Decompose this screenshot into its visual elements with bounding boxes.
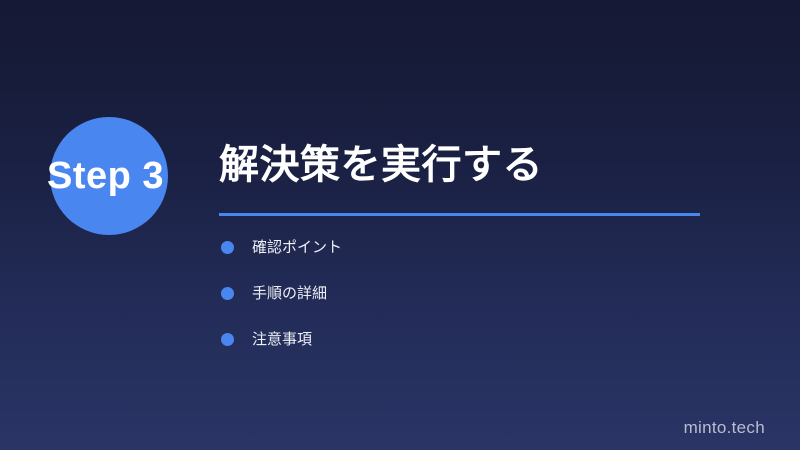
footer-watermark: minto.tech	[684, 418, 765, 438]
list-item: 確認ポイント	[221, 238, 342, 257]
presentation-slide: Step 3 解決策を実行する 確認ポイント 手順の詳細 注意事項 minto.…	[0, 0, 800, 450]
list-item: 手順の詳細	[221, 284, 342, 303]
bullet-dot-icon	[221, 241, 234, 254]
bullet-dot-icon	[221, 287, 234, 300]
list-item-label: 手順の詳細	[252, 284, 327, 303]
list-item: 注意事項	[221, 330, 342, 349]
title-accent-rule	[219, 213, 700, 216]
slide-title: 解決策を実行する	[219, 138, 701, 192]
list-item-label: 注意事項	[252, 330, 312, 349]
bullet-dot-icon	[221, 333, 234, 346]
title-block: 解決策を実行する	[219, 138, 701, 216]
list-item-label: 確認ポイント	[252, 238, 342, 257]
bullet-list: 確認ポイント 手順の詳細 注意事項	[221, 238, 342, 376]
step-badge-label: Step 3	[47, 153, 164, 199]
